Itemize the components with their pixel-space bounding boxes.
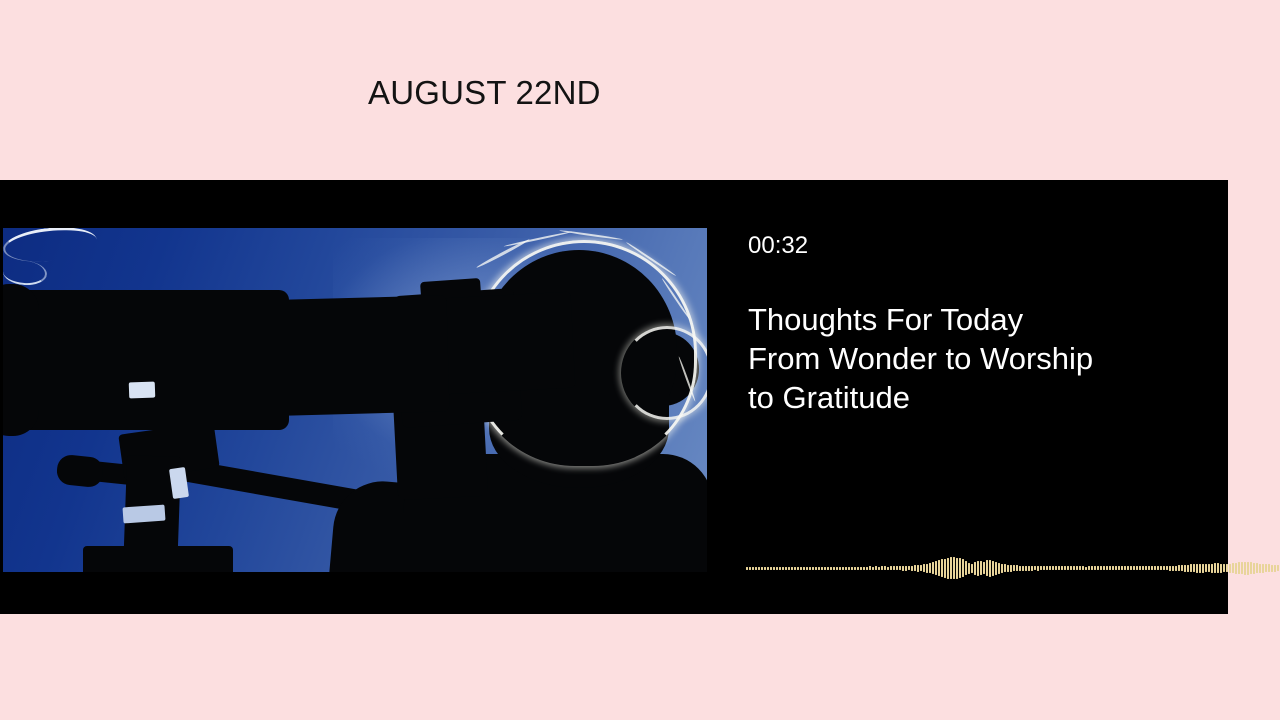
waveform-bar xyxy=(1019,566,1021,571)
waveform-bar xyxy=(893,566,895,570)
waveform-bar xyxy=(782,567,784,570)
waveform-bar xyxy=(998,563,1000,574)
waveform-bar xyxy=(905,566,907,571)
waveform-bar xyxy=(1274,565,1276,572)
waveform-bar xyxy=(824,567,826,570)
waveform-bar xyxy=(1151,566,1153,570)
waveform-bar xyxy=(938,560,940,576)
media-player-panel: 00:32 Thoughts For Today From Wonder to … xyxy=(0,180,1228,614)
waveform-bar xyxy=(1169,566,1171,571)
waveform-bar xyxy=(779,567,781,570)
waveform-bar xyxy=(1217,563,1219,573)
waveform-bar xyxy=(857,567,859,570)
waveform-bar xyxy=(1208,564,1210,572)
waveform-bar xyxy=(788,567,790,570)
waveform-bar xyxy=(815,567,817,570)
waveform-bar xyxy=(887,567,889,570)
waveform-bar xyxy=(767,567,769,570)
waveform-bar xyxy=(860,567,862,570)
waveform-bar xyxy=(1007,565,1009,572)
waveform-bar xyxy=(1043,566,1045,570)
waveform-bar xyxy=(1088,566,1090,570)
waveform-bar xyxy=(746,567,748,570)
waveform-bar xyxy=(770,567,772,570)
waveform-bar xyxy=(920,565,922,571)
waveform-bar xyxy=(752,567,754,570)
waveform-bar xyxy=(1118,566,1120,570)
waveform-bar xyxy=(1139,566,1141,570)
waveform-bar xyxy=(1022,566,1024,571)
waveform-bar xyxy=(1229,564,1231,573)
waveform-bar xyxy=(947,558,949,579)
waveform-bar xyxy=(1253,563,1255,574)
waveform-bar xyxy=(980,561,982,575)
waveform-bar xyxy=(1199,564,1201,573)
waveform-bar xyxy=(1001,564,1003,573)
waveform-bar xyxy=(989,560,991,577)
waveform-bar xyxy=(875,566,877,570)
playback-timestamp: 00:32 xyxy=(748,232,808,260)
waveform-bar xyxy=(830,567,832,570)
waveform-bar xyxy=(1097,566,1099,570)
waveform-bar xyxy=(995,562,997,575)
waveform-bar xyxy=(749,567,751,570)
waveform-bar xyxy=(1013,565,1015,571)
waveform-bar xyxy=(800,567,802,570)
waveform-bar xyxy=(1223,564,1225,572)
waveform-bar xyxy=(932,562,934,574)
waveform-bar xyxy=(869,566,871,570)
waveform-bar xyxy=(1037,566,1039,571)
lens-foot-plate xyxy=(122,505,165,524)
waveform-bar xyxy=(953,557,955,579)
waveform-bar xyxy=(1181,565,1183,571)
waveform-bar xyxy=(1247,562,1249,575)
waveform-bar xyxy=(1103,566,1105,570)
waveform-bar xyxy=(1172,566,1174,571)
waveform-bar xyxy=(1130,566,1132,570)
waveform-bar xyxy=(1073,566,1075,570)
waveform-bar xyxy=(776,567,778,570)
waveform-bar xyxy=(911,566,913,571)
waveform-bar xyxy=(1121,566,1123,570)
waveform-bar xyxy=(1010,565,1012,572)
waveform-bar xyxy=(839,567,841,570)
waveform-bar xyxy=(842,567,844,570)
waveform-bar xyxy=(1082,566,1084,570)
waveform-bar xyxy=(1106,566,1108,570)
waveform-bar xyxy=(1079,566,1081,570)
waveform-bar xyxy=(1055,566,1057,570)
waveform-bar xyxy=(1142,566,1144,570)
waveform-bar xyxy=(1178,565,1180,571)
waveform-bar xyxy=(926,564,928,573)
waveform-bar xyxy=(1214,563,1216,573)
waveform-bar xyxy=(758,567,760,570)
waveform-bar xyxy=(878,567,880,570)
waveform-bar xyxy=(1244,562,1246,575)
waveform-bar xyxy=(851,567,853,570)
audio-waveform-scrubber[interactable] xyxy=(746,552,1192,584)
tripod-knob-silhouette xyxy=(56,454,105,489)
waveform-bar xyxy=(974,562,976,575)
waveform-bar xyxy=(959,558,961,578)
waveform-bar xyxy=(755,567,757,570)
waveform-bar xyxy=(848,567,850,570)
waveform-bar xyxy=(1277,565,1279,571)
waveform-bar xyxy=(908,566,910,570)
waveform-bar xyxy=(806,567,808,570)
waveform-bar xyxy=(1241,562,1243,574)
waveform-bar xyxy=(803,567,805,570)
waveform-bar xyxy=(827,567,829,570)
waveform-bar xyxy=(1145,566,1147,570)
waveform-bar xyxy=(1100,566,1102,570)
waveform-bar xyxy=(761,567,763,570)
waveform-bar xyxy=(1061,566,1063,570)
waveform-bar xyxy=(764,567,766,570)
waveform-bar xyxy=(986,560,988,576)
waveform-bar xyxy=(971,564,973,573)
waveform-bar xyxy=(923,564,925,572)
waveform-bar xyxy=(896,566,898,570)
waveform-bar xyxy=(1250,562,1252,574)
waveform-bar xyxy=(902,566,904,571)
waveform-bar xyxy=(1031,566,1033,571)
waveform-bar xyxy=(1127,566,1129,570)
waveform-bar xyxy=(1124,566,1126,570)
waveform-bar xyxy=(1160,566,1162,570)
waveform-bar xyxy=(1157,566,1159,570)
waveform-bar xyxy=(1058,566,1060,570)
waveform-bar xyxy=(1262,564,1264,573)
lens-barrel-silhouette xyxy=(3,290,289,430)
waveform-bar xyxy=(1175,566,1177,571)
waveform-bar xyxy=(977,561,979,576)
waveform-bar xyxy=(1235,563,1237,574)
waveform-bar xyxy=(1265,564,1267,572)
waveform-bar xyxy=(929,563,931,573)
waveform-bar xyxy=(956,558,958,579)
waveform-bar xyxy=(1076,566,1078,570)
waveform-bar xyxy=(863,567,865,570)
waveform-bar xyxy=(1190,564,1192,572)
waveform-bar xyxy=(935,561,937,575)
waveform-bar xyxy=(1148,566,1150,570)
lens-switch-plate xyxy=(129,382,156,399)
waveform-bar xyxy=(1040,566,1042,570)
waveform-bar xyxy=(1196,564,1198,573)
waveform-bar xyxy=(1154,566,1156,570)
waveform-bar xyxy=(890,566,892,570)
waveform-bar xyxy=(872,567,874,570)
waveform-bar xyxy=(1202,564,1204,573)
waveform-bar xyxy=(1232,563,1234,573)
waveform-bar xyxy=(1091,566,1093,570)
waveform-bar xyxy=(944,559,946,578)
waveform-bar xyxy=(1046,566,1048,570)
waveform-bar xyxy=(1271,565,1273,572)
waveform-bar xyxy=(1049,566,1051,570)
waveform-bar xyxy=(992,561,994,576)
waveform-bar xyxy=(791,567,793,570)
episode-artwork-photo xyxy=(3,228,707,572)
lens-hood-silhouette xyxy=(3,284,39,436)
waveform-bar xyxy=(1034,566,1036,570)
waveform-bar xyxy=(1238,562,1240,574)
waveform-bar xyxy=(1070,566,1072,570)
waveform-bar xyxy=(1184,565,1186,572)
waveform-bar xyxy=(1220,564,1222,573)
waveform-bar xyxy=(1025,566,1027,571)
waveform-bar xyxy=(773,567,775,570)
waveform-bar xyxy=(812,567,814,570)
waveform-bar xyxy=(962,559,964,577)
waveform-bar xyxy=(950,557,952,579)
waveform-bar xyxy=(794,567,796,570)
waveform-bar xyxy=(1052,566,1054,570)
waveform-bar xyxy=(968,563,970,574)
episode-title: Thoughts For Today From Wonder to Worshi… xyxy=(748,300,1198,417)
waveform-bar xyxy=(836,567,838,570)
waveform-bar xyxy=(1067,566,1069,570)
waveform-bar xyxy=(1193,564,1195,572)
waveform-bar xyxy=(1205,564,1207,572)
waveform-bar xyxy=(854,567,856,570)
waveform-bar xyxy=(818,567,820,570)
waveform-bar xyxy=(1064,566,1066,570)
waveform-bar xyxy=(1094,566,1096,570)
waveform-bar xyxy=(1187,565,1189,572)
tripod-base-silhouette xyxy=(83,546,233,572)
waveform-bar xyxy=(881,566,883,570)
waveform-bar xyxy=(785,567,787,570)
waveform-bar xyxy=(1256,563,1258,573)
waveform-bar xyxy=(914,565,916,571)
waveform-bar xyxy=(1226,564,1228,572)
waveform-bar xyxy=(983,562,985,574)
waveform-bar xyxy=(1109,566,1111,570)
waveform-bar xyxy=(1004,564,1006,572)
waveform-bar xyxy=(1268,564,1270,572)
waveform-bar xyxy=(917,565,919,572)
waveform-bar xyxy=(1259,564,1261,573)
waveform-bar xyxy=(884,566,886,570)
waveform-bar xyxy=(965,561,967,575)
waveform-bar xyxy=(1112,566,1114,570)
waveform-bar xyxy=(797,567,799,570)
waveform-bar xyxy=(1211,564,1213,573)
waveform-bar xyxy=(1136,566,1138,570)
slide-heading: AUGUST 22ND xyxy=(368,72,601,114)
waveform-bar xyxy=(1166,566,1168,570)
waveform-bar xyxy=(941,559,943,577)
waveform-bar xyxy=(821,567,823,570)
waveform-bar xyxy=(1163,566,1165,570)
waveform-bar xyxy=(809,567,811,570)
waveform-bar xyxy=(833,567,835,570)
waveform-bar xyxy=(1028,566,1030,571)
waveform-bar xyxy=(1115,566,1117,570)
waveform-bar xyxy=(1085,567,1087,570)
waveform-bar xyxy=(866,567,868,570)
waveform-bar xyxy=(845,567,847,570)
waveform-bar xyxy=(1133,566,1135,570)
waveform-bar xyxy=(899,566,901,570)
waveform-bar xyxy=(1016,565,1018,571)
